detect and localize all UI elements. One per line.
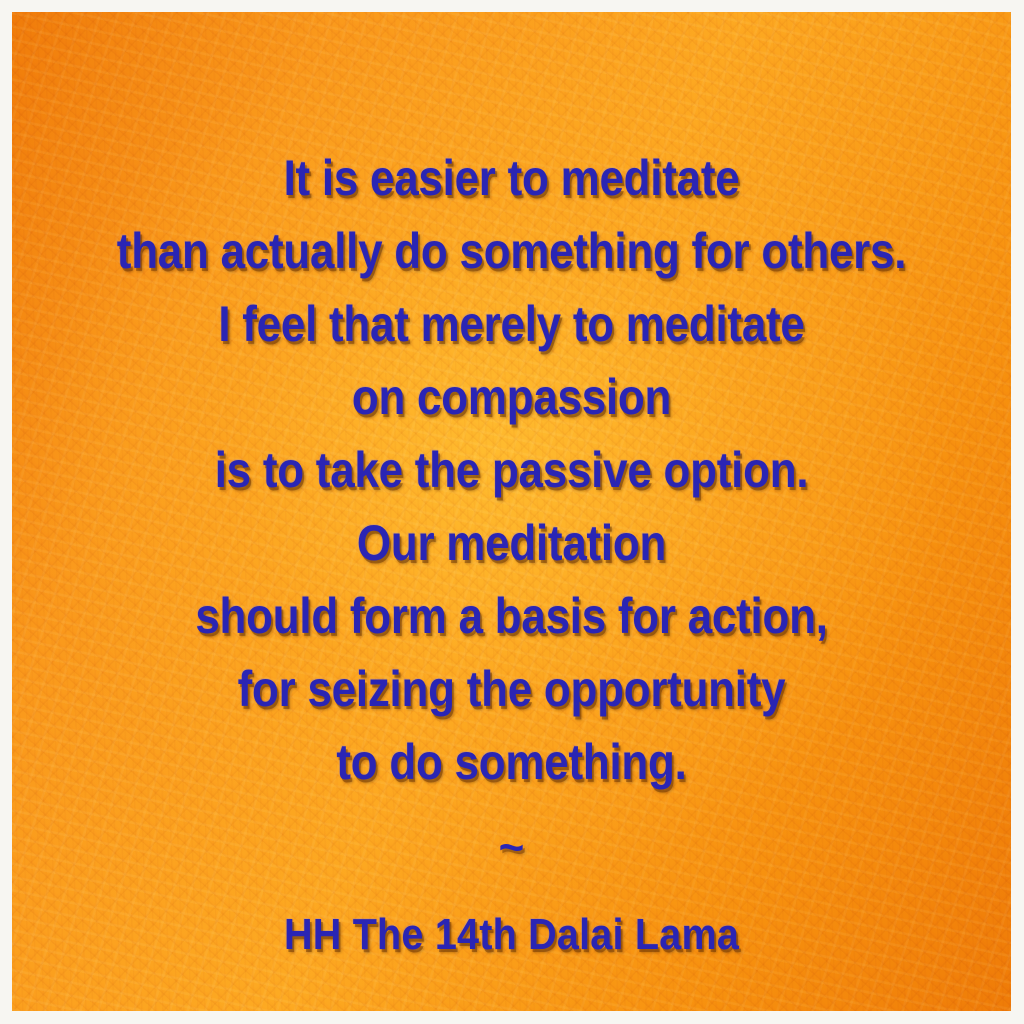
quote-line: It is easier to meditate: [72, 142, 951, 215]
quote-line: Our meditation: [72, 507, 951, 580]
quote-line: is to take the passive option.: [72, 434, 951, 507]
quote-line: than actually do something for others.: [72, 215, 951, 288]
photo-frame: It is easier to meditate than actually d…: [0, 0, 1024, 1024]
quote-line: on compassion: [72, 361, 951, 434]
quote-text-block: It is easier to meditate than actually d…: [12, 142, 1011, 799]
tilde-separator: ~: [12, 819, 1011, 877]
quote-line: for seizing the opportunity: [72, 653, 951, 726]
quote-attribution: HH The 14th Dalai Lama: [62, 907, 961, 963]
quote-line: to do something.: [72, 726, 951, 799]
quote-line: should form a basis for action,: [72, 580, 951, 653]
quote-line: I feel that merely to meditate: [72, 288, 951, 361]
quote-card-canvas: It is easier to meditate than actually d…: [12, 12, 1011, 1011]
